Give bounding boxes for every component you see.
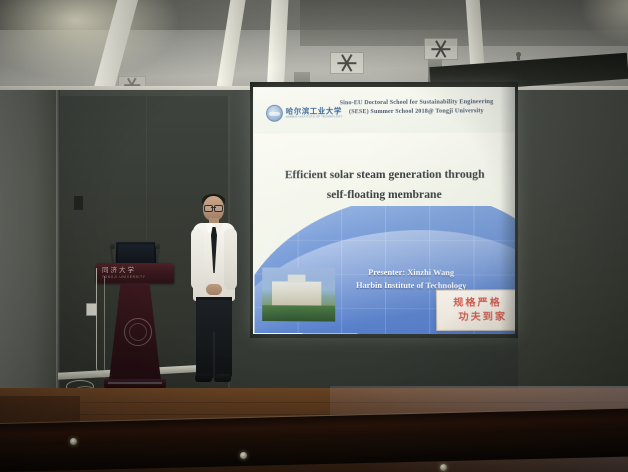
air-vent-icon [330,52,364,74]
glasses-icon [204,205,223,210]
microphone-icon [155,241,160,249]
presentation-slide: 哈尔滨工业大学 HARBIN INSTITUTE OF TECHNOLOGY S… [254,87,515,334]
presenter-person [190,196,238,396]
air-vent-icon [424,38,458,60]
microphone-icon [110,241,115,249]
motto-banner-line1: 规格严格 [453,296,502,310]
left-arm [191,228,204,290]
screen-edge-shading [500,87,515,334]
hit-emblem-icon [266,105,283,122]
slide-title: Efficient solar steam generation through… [263,165,507,205]
clasped-hands [206,284,222,295]
shoe [214,374,231,382]
trousers [196,300,232,378]
stage-light-icon [70,438,77,445]
presentation-photo-scene: 哈尔滨工业大学 HARBIN INSTITUTE OF TECHNOLOGY S… [0,0,628,472]
wall-pillar-edge [56,90,60,420]
stage-light-icon [440,464,447,471]
stage-light-icon [240,452,247,459]
projection-screen: 哈尔滨工业大学 HARBIN INSTITUTE OF TECHNOLOGY S… [253,87,515,334]
wall-fixture [74,196,83,210]
cable [104,276,113,376]
ceiling-light-glow-left [0,0,180,80]
conference-header-line2: (SESE) Summer School 2018@ Tongji Univer… [326,107,507,118]
wall-right-section [518,90,628,420]
right-arm [224,228,237,290]
slide-title-line1: Efficient solar steam generation through [263,165,507,186]
sprinkler-icon [516,52,521,57]
presenter-name: Presenter: Xinzhi Wang [313,266,510,280]
motto-banner-line2: 功夫到家 [448,310,507,324]
slide-title-line2: self-floating membrane [263,185,507,205]
microphone-stem [156,247,160,263]
wall-pillar [0,90,60,420]
lectern-name-cn: 同济大学 [102,266,136,274]
ceiling-shadow-band-right [300,0,628,46]
conference-header: Sino-EU Doctoral School for Sustainabili… [326,98,507,118]
shoe [195,374,212,382]
university-seal-icon [124,318,152,346]
lectern-base-highlight [108,382,162,384]
